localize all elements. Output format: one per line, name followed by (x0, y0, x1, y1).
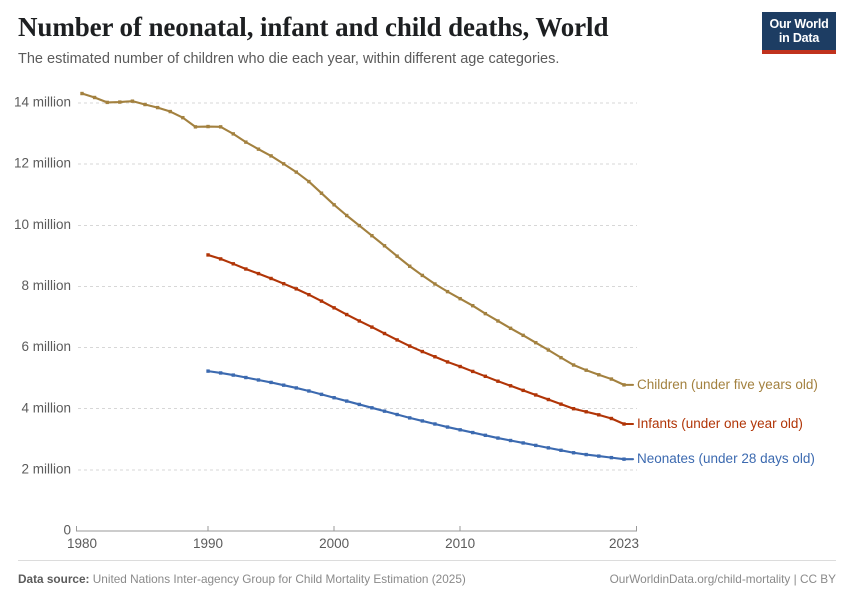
data-point-marker[interactable] (307, 293, 310, 296)
series-label-0[interactable]: Children (under five years old) (637, 377, 818, 392)
data-point-marker[interactable] (572, 407, 575, 410)
data-point-marker[interactable] (206, 125, 209, 128)
y-axis-tick-label: 10 million (14, 217, 71, 232)
data-point-marker[interactable] (206, 369, 209, 372)
data-point-marker[interactable] (295, 170, 298, 173)
data-point-marker[interactable] (446, 290, 449, 293)
data-point-marker[interactable] (559, 356, 562, 359)
data-point-marker[interactable] (496, 319, 499, 322)
x-axis-tick-label: 2023 (609, 536, 639, 551)
data-point-marker[interactable] (169, 110, 172, 113)
series-line-0[interactable] (82, 94, 624, 385)
data-point-marker[interactable] (496, 436, 499, 439)
data-point-marker[interactable] (484, 375, 487, 378)
data-point-marker[interactable] (358, 319, 361, 322)
x-axis-tick-label: 1990 (193, 536, 223, 551)
y-axis-tick-label: 8 million (21, 278, 71, 293)
data-point-marker[interactable] (219, 257, 222, 260)
data-point-marker[interactable] (509, 384, 512, 387)
data-point-marker[interactable] (307, 180, 310, 183)
data-point-marker[interactable] (244, 376, 247, 379)
data-point-marker[interactable] (534, 393, 537, 396)
data-point-marker[interactable] (421, 274, 424, 277)
data-point-marker[interactable] (458, 428, 461, 431)
data-point-marker[interactable] (584, 410, 587, 413)
data-point-marker[interactable] (446, 425, 449, 428)
data-source-label: Data source: (18, 572, 89, 586)
data-point-marker[interactable] (559, 449, 562, 452)
data-point-marker[interactable] (282, 383, 285, 386)
data-point-marker[interactable] (93, 96, 96, 99)
data-point-marker[interactable] (610, 417, 613, 420)
data-point-marker[interactable] (408, 344, 411, 347)
data-point-marker[interactable] (156, 106, 159, 109)
data-point-marker[interactable] (370, 406, 373, 409)
data-point-marker[interactable] (232, 373, 235, 376)
data-point-marker[interactable] (572, 451, 575, 454)
data-point-marker[interactable] (408, 265, 411, 268)
data-point-marker[interactable] (395, 254, 398, 257)
data-point-marker[interactable] (383, 244, 386, 247)
data-point-marker[interactable] (547, 348, 550, 351)
series-label-2[interactable]: Neonates (under 28 days old) (637, 451, 815, 466)
chart-plot-area[interactable]: 02 million4 million6 million8 million10 … (0, 0, 850, 560)
data-point-marker[interactable] (219, 371, 222, 374)
y-axis-tick-label: 2 million (21, 461, 71, 476)
data-point-marker[interactable] (597, 413, 600, 416)
y-axis-tick-label: 12 million (14, 156, 71, 171)
data-point-marker[interactable] (521, 441, 524, 444)
x-axis-tick-label: 2000 (319, 536, 349, 551)
y-axis-tick-label: 14 million (14, 95, 71, 110)
chart-footer: Data source: United Nations Inter-agency… (0, 560, 850, 600)
data-point-marker[interactable] (320, 393, 323, 396)
data-point-marker[interactable] (383, 332, 386, 335)
data-point-marker[interactable] (206, 253, 209, 256)
data-point-marker[interactable] (332, 203, 335, 206)
data-point-marker[interactable] (534, 341, 537, 344)
data-point-marker[interactable] (559, 402, 562, 405)
data-source-text: Data source: United Nations Inter-agency… (18, 572, 466, 586)
data-point-marker[interactable] (408, 416, 411, 419)
data-point-marker[interactable] (584, 453, 587, 456)
data-point-marker[interactable] (257, 272, 260, 275)
data-point-marker[interactable] (421, 419, 424, 422)
data-point-marker[interactable] (118, 100, 121, 103)
data-point-marker[interactable] (307, 389, 310, 392)
data-point-marker[interactable] (496, 380, 499, 383)
y-axis-tick-label: 6 million (21, 339, 71, 354)
data-point-marker[interactable] (282, 162, 285, 165)
data-point-marker[interactable] (458, 365, 461, 368)
data-point-marker[interactable] (471, 431, 474, 434)
data-point-marker[interactable] (395, 413, 398, 416)
series-label-1[interactable]: Infants (under one year old) (637, 416, 803, 431)
data-point-marker[interactable] (345, 214, 348, 217)
data-source-value: United Nations Inter-agency Group for Ch… (93, 572, 466, 586)
data-point-marker[interactable] (332, 396, 335, 399)
data-point-marker[interactable] (269, 381, 272, 384)
data-point-marker[interactable] (521, 389, 524, 392)
data-point-marker[interactable] (471, 370, 474, 373)
data-point-marker[interactable] (269, 277, 272, 280)
data-point-marker[interactable] (433, 282, 436, 285)
data-point-marker[interactable] (534, 444, 537, 447)
data-point-marker[interactable] (232, 262, 235, 265)
data-point-marker[interactable] (370, 325, 373, 328)
data-point-marker[interactable] (295, 386, 298, 389)
data-point-marker[interactable] (395, 338, 398, 341)
x-axis-tick-label: 1980 (67, 536, 97, 551)
data-point-marker[interactable] (383, 409, 386, 412)
data-point-marker[interactable] (194, 125, 197, 128)
data-point-marker[interactable] (446, 360, 449, 363)
data-point-marker[interactable] (421, 350, 424, 353)
series-line-1[interactable] (208, 255, 624, 424)
data-point-marker[interactable] (610, 456, 613, 459)
data-point-marker[interactable] (320, 299, 323, 302)
data-point-marker[interactable] (345, 399, 348, 402)
data-point-marker[interactable] (257, 147, 260, 150)
data-point-marker[interactable] (572, 363, 575, 366)
data-point-marker[interactable] (433, 355, 436, 358)
footer-divider (18, 560, 836, 561)
data-point-marker[interactable] (597, 373, 600, 376)
series-line-2[interactable] (208, 371, 624, 459)
data-point-marker[interactable] (257, 378, 260, 381)
data-point-marker[interactable] (345, 313, 348, 316)
data-point-marker[interactable] (433, 422, 436, 425)
data-point-marker[interactable] (610, 377, 613, 380)
data-point-marker[interactable] (458, 297, 461, 300)
data-point-marker[interactable] (358, 403, 361, 406)
line-chart-svg: 02 million4 million6 million8 million10 … (0, 0, 850, 560)
data-point-marker[interactable] (143, 103, 146, 106)
data-point-marker[interactable] (244, 140, 247, 143)
data-point-marker[interactable] (509, 439, 512, 442)
data-point-marker[interactable] (219, 125, 222, 128)
data-point-marker[interactable] (181, 116, 184, 119)
data-point-marker[interactable] (282, 282, 285, 285)
data-point-marker[interactable] (244, 267, 247, 270)
data-point-marker[interactable] (597, 454, 600, 457)
data-point-marker[interactable] (106, 101, 109, 104)
data-point-marker[interactable] (358, 224, 361, 227)
data-point-marker[interactable] (521, 334, 524, 337)
data-point-marker[interactable] (484, 312, 487, 315)
data-point-marker[interactable] (295, 287, 298, 290)
data-point-marker[interactable] (471, 304, 474, 307)
data-point-marker[interactable] (131, 99, 134, 102)
data-point-marker[interactable] (509, 327, 512, 330)
data-point-marker[interactable] (332, 306, 335, 309)
data-point-marker[interactable] (320, 191, 323, 194)
data-point-marker[interactable] (232, 132, 235, 135)
data-point-marker[interactable] (584, 368, 587, 371)
data-point-marker[interactable] (80, 92, 83, 95)
footer-url-license[interactable]: OurWorldinData.org/child-mortality | CC … (610, 572, 836, 586)
data-point-marker[interactable] (269, 154, 272, 157)
data-point-marker[interactable] (547, 446, 550, 449)
data-point-marker[interactable] (484, 434, 487, 437)
data-point-marker[interactable] (370, 234, 373, 237)
x-axis-tick-label: 2010 (445, 536, 475, 551)
y-axis-tick-label: 4 million (21, 400, 71, 415)
data-point-marker[interactable] (547, 398, 550, 401)
